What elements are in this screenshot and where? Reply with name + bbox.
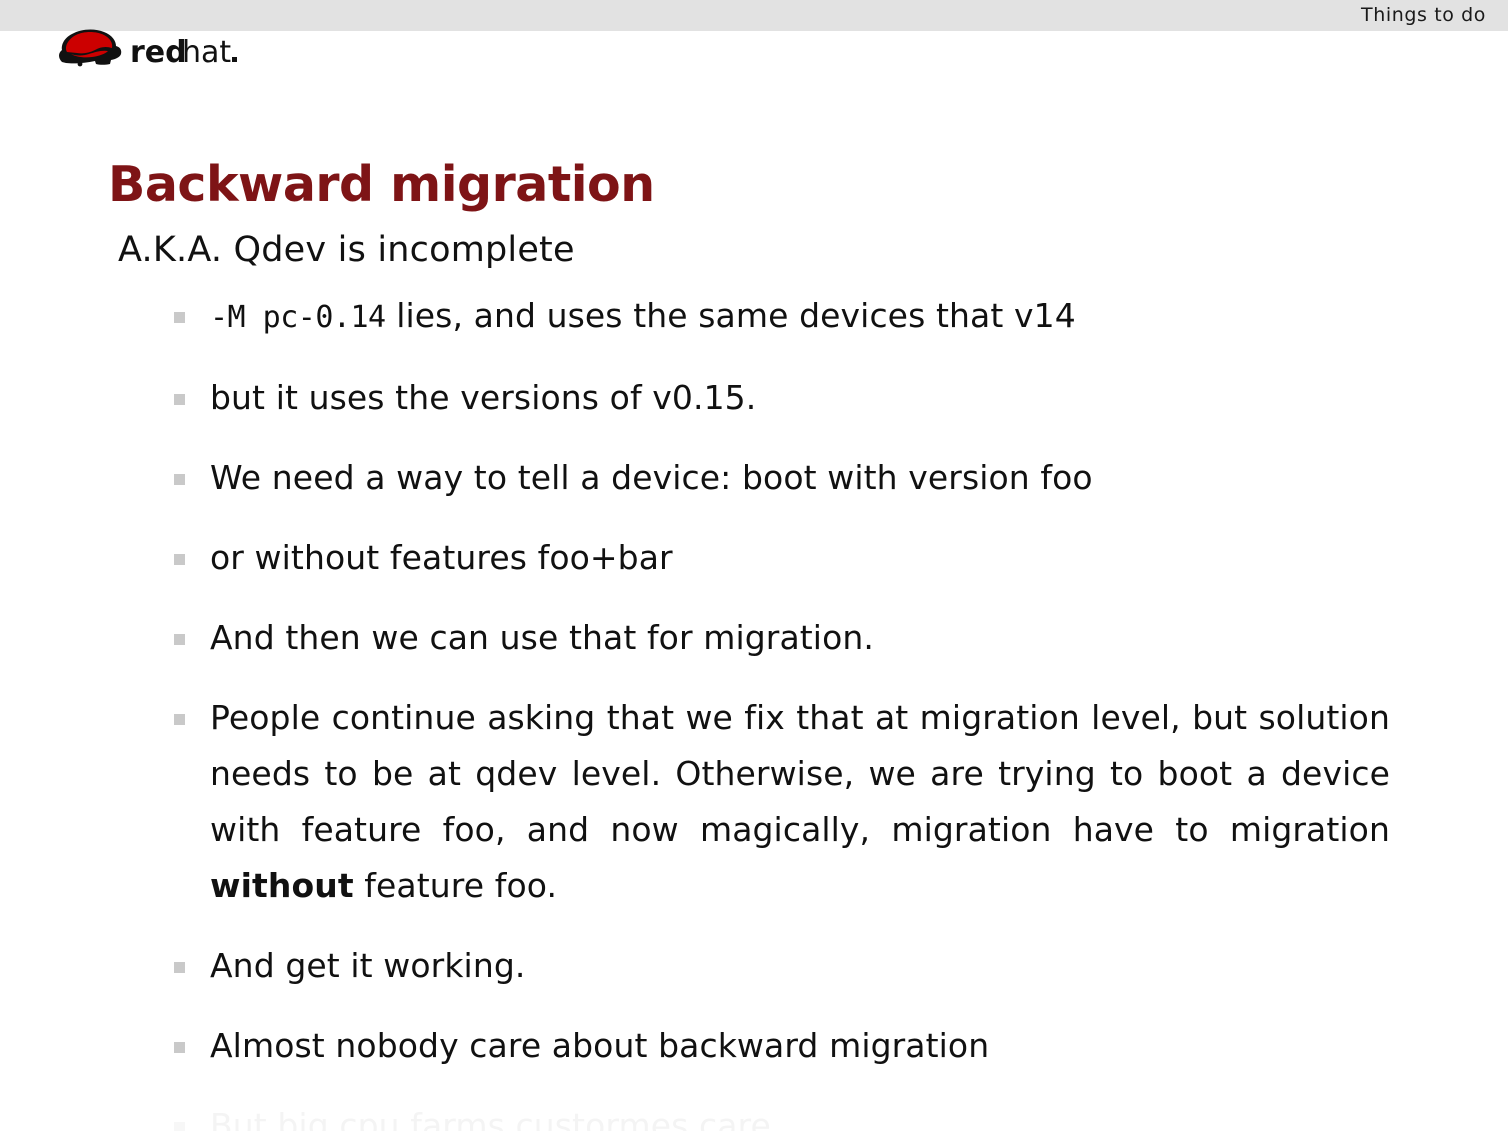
list-item: And get it working. [0,938,1508,994]
bullet-text: But big cpu farms custormes care [210,1106,771,1131]
section-title: Things to do [1361,3,1486,27]
list-item: or without features foo+bar [0,530,1508,586]
bullet-text: We need a way to tell a device: boot wit… [210,458,1093,497]
list-item: but it uses the versions of v0.15. [0,370,1508,426]
bullet-text: but it uses the versions of v0.15. [210,378,756,417]
page-title: Backward migration [108,155,655,215]
bullet-text-before-bold: People continue asking that we fix that … [210,698,1390,849]
bullet-marker-icon [174,962,185,973]
bullet-marker-icon [174,474,185,485]
bullet-marker-icon [174,634,185,645]
bullet-text-bold: without [210,866,354,905]
bullet-marker-icon [174,1122,185,1131]
bullet-mono-code: -M pc-0.14 [210,300,386,335]
slide: Things to do red hat Backward migration … [0,0,1508,1131]
list-item-upcoming: But big cpu farms custormes care [0,1098,1508,1131]
bullet-marker-icon [174,394,185,405]
bullet-marker-icon [174,1042,185,1053]
bullet-text: And then we can use that for migration. [210,618,874,657]
list-item: We need a way to tell a device: boot wit… [0,450,1508,506]
bullet-marker-icon [174,554,185,565]
bullet-text: lies, and uses the same devices that v14 [386,296,1076,335]
list-item: Almost nobody care about backward migrat… [0,1018,1508,1074]
red-hat-logo: red hat [50,24,250,72]
logo-word-hat: hat [182,35,231,70]
logo-period [232,57,237,62]
bullet-list: -M pc-0.14 lies, and uses the same devic… [0,288,1508,1131]
list-item: -M pc-0.14 lies, and uses the same devic… [0,288,1508,346]
slide-content: A.K.A. Qdev is incomplete -M pc-0.14 lie… [0,228,1508,1131]
logo-word-red: red [130,35,187,70]
red-hat-shadowman-icon: red hat [50,24,250,72]
bullet-marker-icon [174,312,185,323]
list-item-paragraph: People continue asking that we fix that … [0,690,1508,914]
bullet-marker-icon [174,714,185,725]
lead-line: A.K.A. Qdev is incomplete [118,228,1508,272]
bullet-text: Almost nobody care about backward migrat… [210,1026,989,1065]
bullet-text: or without features foo+bar [210,538,673,577]
bullet-text-after-bold: feature foo. [354,866,557,905]
list-item: And then we can use that for migration. [0,610,1508,666]
bullet-text: And get it working. [210,946,525,985]
